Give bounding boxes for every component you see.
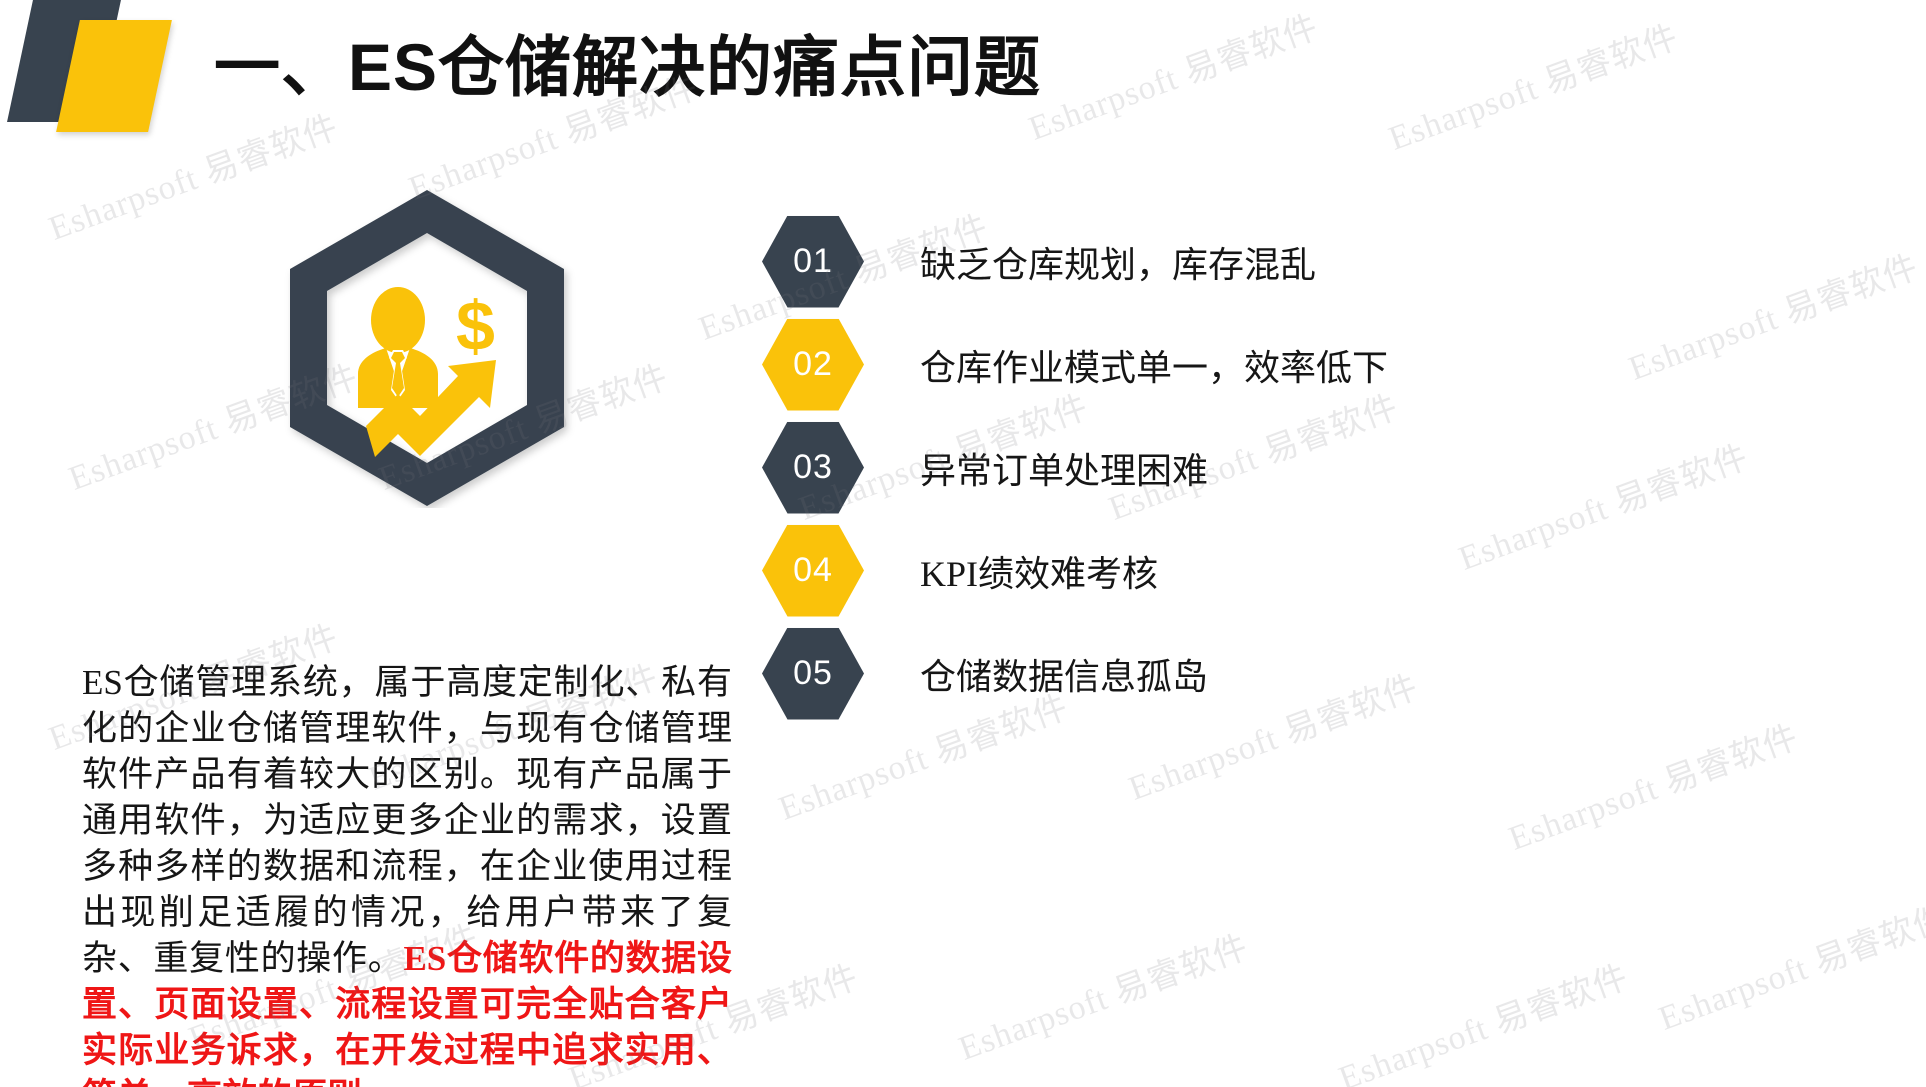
hexagon-outline-icon bbox=[290, 190, 564, 506]
watermark-text: Esharpsoft 易睿软件 bbox=[1381, 9, 1684, 159]
watermark-text: Esharpsoft 易睿软件 bbox=[1021, 0, 1324, 150]
pain-point-label: 仓储数据信息孤岛 bbox=[920, 648, 1208, 700]
list-item[interactable]: 04 KPI绩效难考核 bbox=[762, 519, 1542, 622]
businessman-dollar-growth-icon: $ bbox=[358, 287, 496, 457]
watermark-text: Esharpsoft 易睿软件 bbox=[1621, 239, 1924, 389]
list-item[interactable]: 02 仓库作业模式单一，效率低下 bbox=[762, 313, 1542, 416]
dark-parallelogram-shape bbox=[7, 0, 121, 122]
pain-point-label: 仓库作业模式单一，效率低下 bbox=[920, 339, 1388, 391]
svg-text:$: $ bbox=[456, 287, 495, 365]
description-plain-text: ES仓储管理系统，属于高度定制化、私有化的企业仓储管理软件，与现有仓储管理软件产… bbox=[82, 663, 732, 978]
badge-number: 05 bbox=[793, 654, 833, 693]
description-paragraph: ES仓储管理系统，属于高度定制化、私有化的企业仓储管理软件，与现有仓储管理软件产… bbox=[82, 660, 732, 1087]
slide-canvas: 一、ES仓储解决的痛点问题 $ bbox=[0, 0, 1926, 1087]
list-item[interactable]: 03 异常订单处理困难 bbox=[762, 416, 1542, 519]
pain-point-label: KPI绩效难考核 bbox=[920, 545, 1158, 597]
badge-number: 03 bbox=[793, 448, 833, 487]
pain-point-label: 缺乏仓库规划，库存混乱 bbox=[920, 236, 1316, 288]
list-item[interactable]: 01 缺乏仓库规划，库存混乱 bbox=[762, 210, 1542, 313]
yellow-parallelogram-shape bbox=[56, 20, 172, 132]
hexagon-badge-02: 02 bbox=[762, 319, 864, 411]
hexagon-badge-05: 05 bbox=[762, 628, 864, 720]
watermark-text: Esharpsoft 易睿软件 bbox=[1331, 949, 1634, 1087]
watermark-text: Esharpsoft 易睿软件 bbox=[1501, 709, 1804, 859]
hexagon-badge-04: 04 bbox=[762, 525, 864, 617]
hexagon-badge-03: 03 bbox=[762, 422, 864, 514]
pain-point-label: 异常订单处理困难 bbox=[920, 442, 1208, 494]
badge-number: 04 bbox=[793, 551, 833, 590]
watermark-text: Esharpsoft 易睿软件 bbox=[951, 919, 1254, 1069]
list-item[interactable]: 05 仓储数据信息孤岛 bbox=[762, 622, 1542, 725]
pain-point-list: 01 缺乏仓库规划，库存混乱 02 仓库作业模式单一，效率低下 03 异常订单处… bbox=[762, 210, 1542, 725]
badge-number: 01 bbox=[793, 242, 833, 281]
hexagon-badge-01: 01 bbox=[762, 216, 864, 308]
watermark-text: Esharpsoft 易睿软件 bbox=[1651, 889, 1926, 1039]
badge-number: 02 bbox=[793, 345, 833, 384]
page-title: 一、ES仓储解决的痛点问题 bbox=[214, 30, 1041, 106]
hexagon-illustration: $ bbox=[262, 178, 592, 508]
